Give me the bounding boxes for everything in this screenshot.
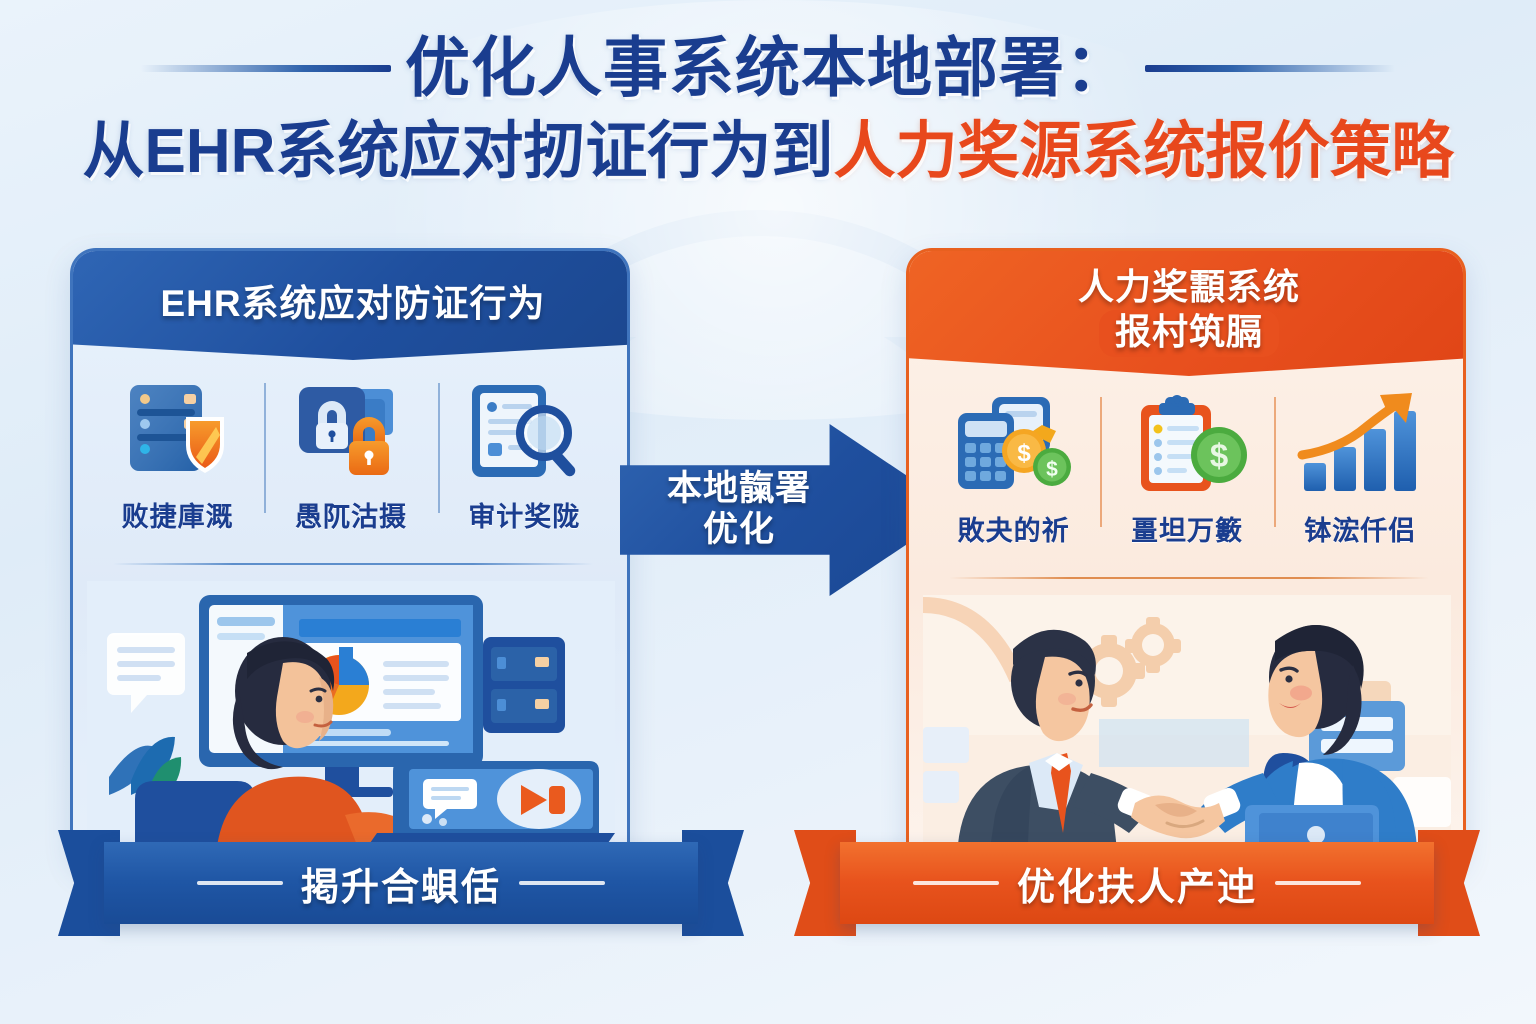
right-ribbon-dash-right — [1275, 881, 1361, 885]
subtitle-blue-part: 从EHR系统应对扨证行为到 — [83, 117, 834, 186]
center-arrow-text: 本地靝署 优化 — [632, 469, 846, 550]
right-feature-1[interactable]: $ $ 敗夬的祈 — [927, 391, 1100, 566]
right-panel-header-text: 人力奖顬系统 报村筑膈 — [1078, 267, 1300, 358]
lock-files-icon — [285, 377, 417, 489]
page-subtitle: 从EHR系统应对扨证行为到人力奖源系统报价策略 — [0, 119, 1536, 184]
title-rule-right — [1145, 65, 1395, 72]
left-panel-divider — [113, 563, 593, 565]
right-feature-3[interactable]: 钵浤仟侣 — [1274, 391, 1447, 566]
right-panel: 人力奖顬系统 报村筑膈 — [906, 248, 1466, 868]
left-feature-2-label: 愚阢沽摄 — [295, 495, 407, 534]
left-panel-header-text: EHR系统应对防证行为 — [160, 283, 545, 324]
left-panel: EHR系统应对防证行为 — [70, 248, 630, 868]
right-feature-3-label: 钵浤仟侣 — [1304, 509, 1416, 548]
left-panel-header: EHR系统应对防证行为 — [70, 248, 630, 360]
left-ribbon-dash-right — [519, 881, 605, 885]
left-ribbon-text: 掲升合蛽佸 — [301, 856, 501, 911]
left-feature-2[interactable]: 愚阢沽摄 — [264, 377, 437, 552]
right-ribbon-dash-left — [913, 881, 999, 885]
right-feature-row: $ $ 敗夬的祈 — [927, 391, 1447, 566]
svg-text:$: $ — [1046, 458, 1058, 481]
title-block: 优化人事系统本地部署： 从EHR系统应对扨证行为到人力奖源系统报价策略 — [0, 34, 1536, 184]
left-feature-3-label: 审计奖陇 — [468, 495, 580, 534]
handshake-deal-illustration — [923, 595, 1451, 868]
right-header-line-2: 报村筑膈 — [1099, 310, 1279, 357]
page-title: 优化人事系统本地部署： — [405, 34, 1131, 102]
infographic-canvas: 优化人事系统本地部署： 从EHR系统应对扨证行为到人力奖源系统报价策略 EHR系… — [0, 0, 1536, 1024]
subtitle-orange-part: 人力奖源系统报价策略 — [833, 117, 1453, 186]
svg-text:$: $ — [1210, 437, 1228, 474]
arrow-line-1: 本地靝署 — [632, 469, 846, 510]
right-feature-2[interactable]: $ 畺坦万籔 — [1100, 391, 1273, 566]
right-ribbon: 优化扶人产迚 — [840, 842, 1434, 924]
left-feature-row: 败捷庫溉 — [91, 377, 611, 552]
left-feature-3[interactable]: 审计奖陇 — [438, 377, 611, 552]
svg-text:$: $ — [1017, 440, 1031, 467]
left-ribbon: 掲升合蛽佸 — [104, 842, 698, 924]
title-rule-left — [141, 65, 391, 72]
left-ribbon-dash-left — [197, 881, 283, 885]
right-ribbon-text: 优化扶人产迚 — [1017, 856, 1257, 911]
right-feature-2-label: 畺坦万籔 — [1131, 509, 1243, 548]
right-feature-1-label: 敗夬的祈 — [958, 509, 1070, 548]
server-shield-icon — [112, 377, 244, 489]
arrow-line-2: 优化 — [632, 510, 846, 551]
right-panel-divider — [949, 577, 1429, 579]
left-feature-1-label: 败捷庫溉 — [122, 495, 234, 534]
right-panel-header: 人力奖顬系统 报村筑膈 — [906, 248, 1466, 376]
clipboard-dollar-icon: $ — [1121, 391, 1253, 503]
document-magnifier-icon — [458, 377, 590, 489]
left-feature-1[interactable]: 败捷庫溉 — [91, 377, 264, 552]
growth-bar-chart-icon — [1294, 391, 1426, 503]
woman-at-computer-illustration — [87, 581, 615, 868]
right-header-line-1: 人力奖顬系统 — [1078, 267, 1300, 307]
calculator-coins-icon: $ $ — [948, 391, 1080, 503]
